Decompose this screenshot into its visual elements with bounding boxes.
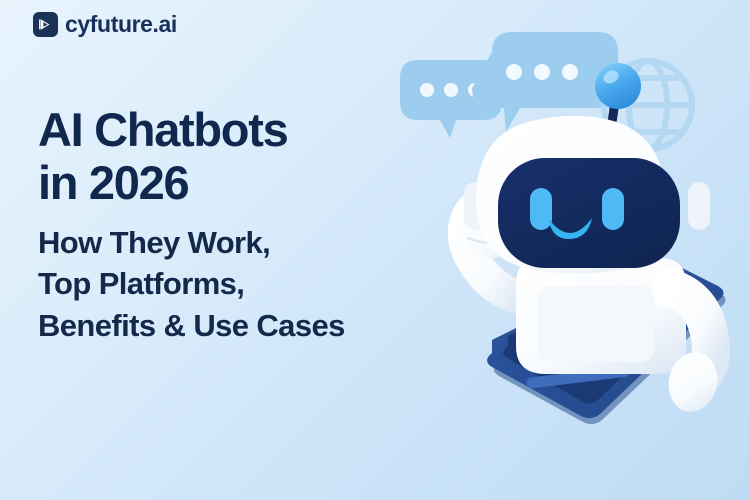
brand-logo[interactable]: cyfuture.ai <box>33 12 177 37</box>
brand-wordmark: cyfuture.ai <box>65 13 177 36</box>
headline-line-2: in 2026 <box>38 157 345 210</box>
chatbot-illustration <box>380 0 750 500</box>
subheadline-line-2: Top Platforms, <box>38 263 345 304</box>
robot-eye-right <box>602 188 624 230</box>
subheadline-line-1: How They Work, <box>38 222 345 263</box>
robot-face-screen <box>498 158 680 268</box>
robot-eye-left <box>530 188 552 230</box>
promo-banner: cyfuture.ai AI Chatbots in 2026 How They… <box>0 0 750 500</box>
robot-ear-right <box>688 182 710 230</box>
subheadline-line-3: Benefits & Use Cases <box>38 305 345 346</box>
subheadline-block: How They Work, Top Platforms, Benefits &… <box>38 222 345 346</box>
robot-head <box>476 116 680 274</box>
copy-block: AI Chatbots in 2026 How They Work, Top P… <box>38 104 345 346</box>
headline-line-1: AI Chatbots <box>38 104 345 157</box>
cyfuture-play-mark-icon <box>33 12 58 37</box>
